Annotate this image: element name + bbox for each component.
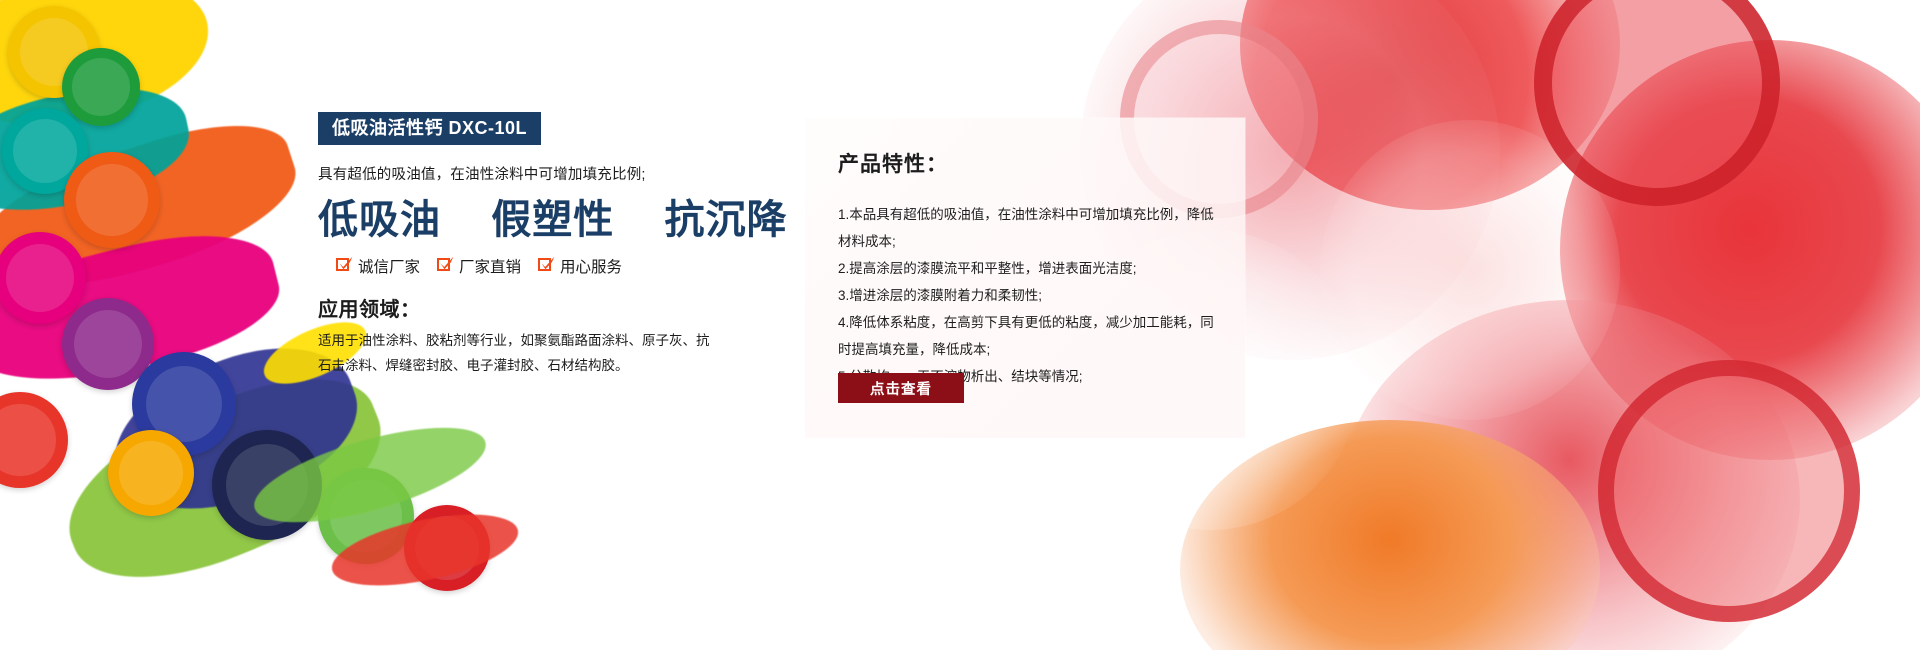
paint-bowl-orange: [64, 152, 160, 248]
checkbox-checked-icon: [437, 257, 454, 274]
view-details-button[interactable]: 点击查看: [838, 373, 964, 403]
paint-can-rim-lower: [1598, 360, 1860, 622]
paint-bowl-amber: [108, 430, 194, 516]
panel-feature-item: 1.本品具有超低的吸油值，在油性涂料中可增加填充比例，降低材料成本;: [838, 201, 1218, 255]
panel-feature-item: 4.降低体系粘度，在高剪下具有更低的粘度，减少加工能耗，同时提高填充量，降低成本…: [838, 309, 1218, 363]
headline-word-2: 假塑性: [491, 199, 614, 241]
banner-copy-block: 低吸油活性钙 DXC-10L 具有超低的吸油值，在油性涂料中可增加填充比例; 低…: [318, 112, 718, 379]
panel-feature-item: 3.增进涂层的漆膜附着力和柔韧性;: [838, 282, 1218, 309]
paint-bowl-red: [0, 392, 68, 488]
product-features-panel: 产品特性： 1.本品具有超低的吸油值，在油性涂料中可增加填充比例，降低材料成本;…: [805, 118, 1245, 438]
product-tag: 低吸油活性钙 DXC-10L: [318, 112, 541, 145]
banner-subtitle: 具有超低的吸油值，在油性涂料中可增加填充比例;: [318, 165, 718, 187]
feature-badge: 厂家直销: [437, 255, 521, 277]
feature-badge-list: 诚信厂家 厂家直销 用心服务: [318, 255, 718, 277]
application-section-title: 应用领域：: [318, 293, 718, 322]
headline-word-1: 低吸油: [318, 199, 441, 241]
banner-headline: 低吸油 假塑性 抗沉降: [318, 199, 718, 241]
paint-bowl-green: [62, 48, 140, 126]
feature-badge: 用心服务: [538, 255, 622, 277]
checkbox-checked-icon: [336, 257, 353, 274]
application-section-body: 适用于油性涂料、胶粘剂等行业，如聚氨酯路面涂料、原子灰、抗石击涂料、焊缝密封胶、…: [318, 329, 710, 379]
checkbox-checked-icon: [538, 257, 555, 274]
panel-feature-list: 1.本品具有超低的吸油值，在油性涂料中可增加填充比例，降低材料成本; 2.提高涂…: [838, 201, 1218, 390]
feature-label: 用心服务: [560, 255, 622, 277]
feature-badge: 诚信厂家: [336, 255, 420, 277]
panel-title: 产品特性：: [838, 148, 948, 178]
feature-label: 厂家直销: [459, 255, 521, 277]
panel-feature-item: 2.提高涂层的漆膜流平和平整性，增进表面光洁度;: [838, 255, 1218, 282]
product-banner: 低吸油活性钙 DXC-10L 具有超低的吸油值，在油性涂料中可增加填充比例; 低…: [0, 0, 1920, 650]
feature-label: 诚信厂家: [358, 255, 420, 277]
headline-word-3: 抗沉降: [665, 199, 788, 241]
